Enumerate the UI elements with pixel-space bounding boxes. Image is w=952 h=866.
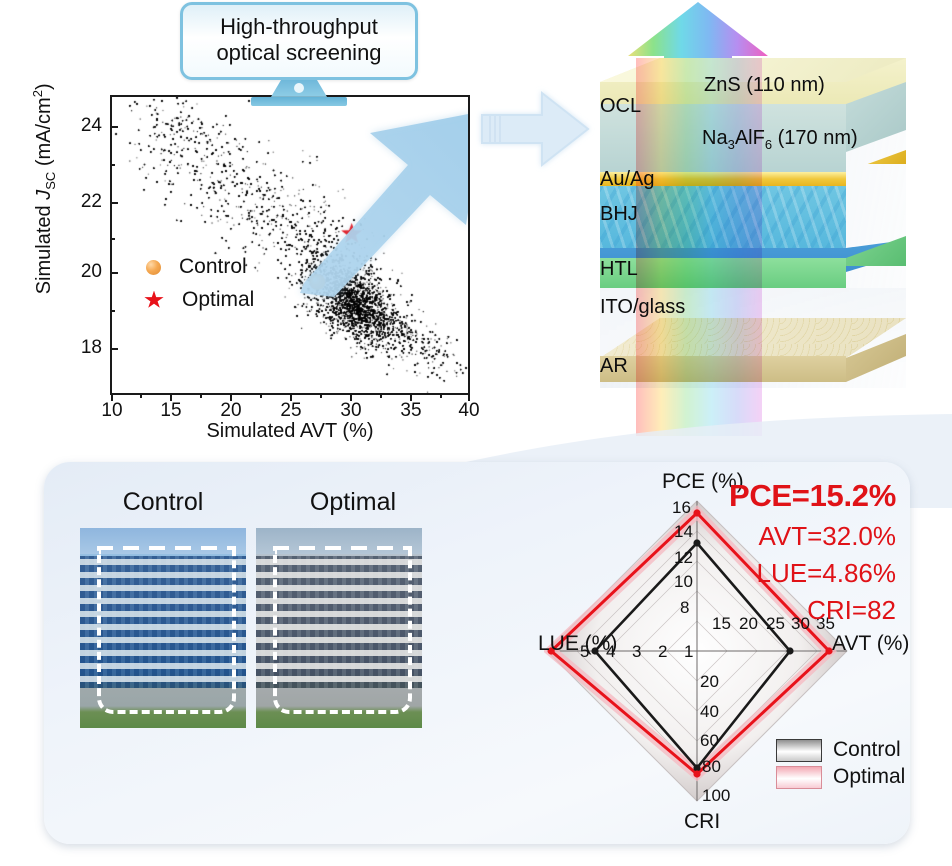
- radar-legend-optimal-label: Optimal: [833, 765, 905, 789]
- results-panel: Control Optimal PCE (%) AVT (%) CRI LUE …: [44, 462, 910, 844]
- x-tick-minor: [200, 393, 202, 398]
- radar-tick-pce-16: 16: [672, 498, 691, 518]
- control-dot-icon: [146, 260, 161, 275]
- radar-tick-lue-2: 2: [658, 642, 667, 662]
- radar-legend-control-label: Control: [833, 738, 901, 762]
- scatter-legend-control: Control: [146, 255, 247, 279]
- y-tick-22: [110, 202, 118, 204]
- monitor-stand-base-icon: [251, 97, 347, 106]
- label-au-ag: Au/Ag: [600, 168, 654, 191]
- y-tick-20: [110, 272, 118, 274]
- radar-axis-label-avt: AVT (%): [832, 632, 909, 656]
- label-bhj: BHJ: [600, 203, 638, 226]
- label-ito-glass: ITO/glass: [600, 296, 685, 319]
- x-tick-minor: [440, 393, 442, 398]
- radar-tick-cri-60: 60: [700, 731, 719, 751]
- monitor-stand-neck-icon: [271, 80, 327, 97]
- scatter-legend-optimal: Optimal: [144, 288, 254, 312]
- device-stack-panel: ZnS (110 nm) OCL Na3AlF6 (170 nm) Au/Ag …: [560, 0, 952, 440]
- photo-title-control: Control: [78, 488, 248, 517]
- scatter-legend-control-label: Control: [179, 255, 247, 279]
- x-tick-minor: [380, 393, 382, 398]
- scatter-legend-optimal-label: Optimal: [182, 288, 254, 312]
- layer-ar: [600, 318, 906, 392]
- radar-tick-lue-5: 5: [580, 642, 589, 662]
- summary-avt: AVT=32.0%: [729, 518, 896, 555]
- callout-line-2: optical screening: [193, 40, 405, 66]
- radar-tick-lue-3: 3: [632, 642, 641, 662]
- cryolite-sub-3: 3: [728, 137, 735, 152]
- y-axis-label: Simulated JSC (mA/cm2): [30, 59, 58, 319]
- y-axis-close: ): [33, 83, 55, 90]
- callout-line-1: High-throughput: [193, 14, 405, 40]
- callout-screening: High-throughput optical screening: [180, 2, 418, 106]
- y-tick-24: [110, 126, 118, 128]
- y-tick-minor: [110, 164, 115, 166]
- cryolite-alf: AlF: [735, 127, 765, 149]
- y-tick-18: [110, 348, 118, 350]
- radar-tick-pce-14: 14: [674, 522, 693, 542]
- summary-cri: CRI=82: [729, 592, 896, 629]
- photo-control: [80, 528, 246, 728]
- scatter-plot-frame: [110, 95, 470, 395]
- radar-tick-cri-80: 80: [702, 757, 721, 777]
- optimal-star-icon: [144, 291, 164, 310]
- y-tick-label-24: 24: [62, 115, 102, 137]
- photo-optimal: [256, 528, 422, 728]
- legend-swatch-control: [776, 739, 822, 762]
- label-htl: HTL: [600, 258, 638, 281]
- radar-tick-pce-12: 12: [674, 548, 693, 568]
- label-ocl: OCL: [600, 95, 641, 118]
- improvement-arrow-icon: [298, 107, 470, 297]
- y-tick-minor: [110, 238, 115, 240]
- radar-tick-lue-1: 1: [684, 642, 693, 662]
- radar-tick-lue-4: 4: [606, 642, 615, 662]
- photo-optimal-roi-frame: [273, 550, 412, 714]
- ar-front-face: [600, 356, 846, 382]
- x-tick-minor: [260, 393, 262, 398]
- callout-screen: High-throughput optical screening: [180, 2, 418, 80]
- radar-legend-optimal: Optimal: [776, 765, 905, 789]
- scatter-plot-panel: 24 22 20 18 10 15 20 25 30 35 40 Simulat…: [0, 0, 520, 450]
- radar-legend-control: Control: [776, 738, 905, 762]
- radar-tick-cri-100: 100: [702, 786, 730, 806]
- y-tick-label-20: 20: [62, 261, 102, 283]
- radar-tick-pce-10: 10: [674, 572, 693, 592]
- legend-swatch-optimal: [776, 766, 822, 789]
- radar-axis-label-cri: CRI: [684, 810, 720, 834]
- y-tick-label-18: 18: [62, 337, 102, 359]
- label-cryolite: Na3AlF6 (170 nm): [702, 127, 858, 152]
- summary-metrics: PCE=15.2% AVT=32.0% LUE=4.86% CRI=82: [729, 474, 896, 629]
- photo-title-optimal: Optimal: [268, 488, 438, 517]
- radar-legend: Control Optimal: [776, 738, 905, 792]
- radar-tick-cri-20: 20: [700, 672, 719, 692]
- summary-lue: LUE=4.86%: [729, 555, 896, 592]
- cryolite-nm: (170 nm): [772, 127, 858, 149]
- y-axis-symbol: J: [33, 190, 55, 200]
- radar-tick-cri-40: 40: [700, 702, 719, 722]
- cryolite-na: Na: [702, 127, 728, 149]
- y-tick-minor: [110, 310, 115, 312]
- y-tick-label-22: 22: [62, 191, 102, 213]
- y-axis-subscript: SC: [43, 172, 58, 190]
- y-axis-label-prefix: Simulated: [33, 200, 55, 295]
- cryolite-sub-6: 6: [765, 137, 772, 152]
- label-ar: AR: [600, 355, 628, 378]
- radar-tick-pce-8: 8: [680, 598, 689, 618]
- summary-pce: PCE=15.2%: [729, 474, 896, 518]
- photo-control-roi-frame: [97, 550, 236, 714]
- x-tick-minor: [320, 393, 322, 398]
- x-tick-minor: [140, 393, 142, 398]
- y-axis-superscript: 2: [30, 90, 45, 97]
- label-zns: ZnS (110 nm): [704, 74, 825, 97]
- y-axis-unit: (mA/cm: [33, 97, 55, 171]
